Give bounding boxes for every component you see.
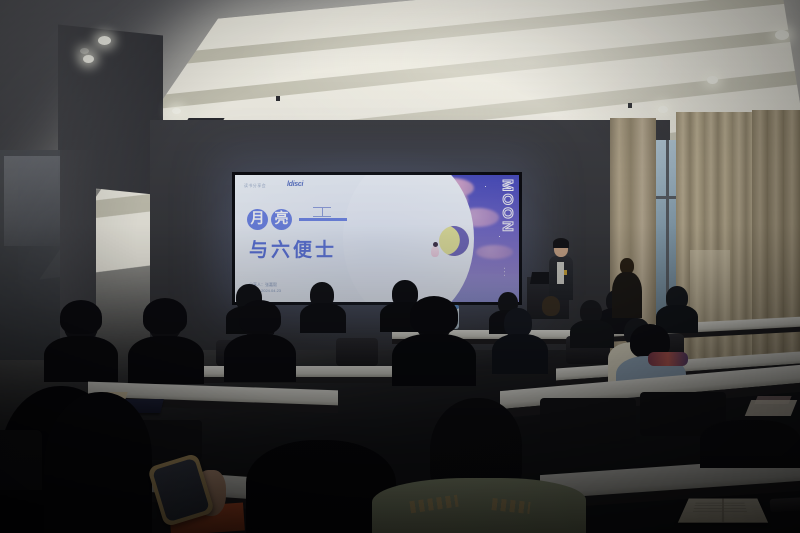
attendee-hair [60, 300, 102, 334]
chair [540, 398, 636, 444]
attendee-scarf [648, 352, 688, 366]
attendee-foreground-hair [44, 392, 152, 533]
book-page-text [692, 503, 748, 514]
lecture-room-photo: MOON ... 读书分享会 ldisci 月 亮 与六便士 分享人：张嘉毅 日… [0, 0, 800, 533]
attendee-shoulders [570, 320, 614, 348]
attendee-shoulders [492, 334, 548, 374]
standing-person-body [612, 272, 642, 318]
phone-on-desk [770, 497, 800, 512]
sprinkler-icon [628, 103, 632, 108]
paper-sheet [745, 400, 797, 416]
downlight-icon [98, 36, 111, 45]
downlight-icon [658, 106, 668, 113]
attendee-shoulders [128, 336, 204, 384]
downlight-icon [172, 108, 181, 114]
attendee-hair [239, 300, 281, 334]
downlight-icon [83, 55, 94, 63]
chair [0, 430, 42, 490]
book-icon [313, 207, 331, 217]
seated-figure-head [433, 242, 438, 247]
title-rule [299, 218, 347, 221]
projection-screen[interactable]: MOON ... 读书分享会 ldisci 月 亮 与六便士 分享人：张嘉毅 日… [235, 175, 519, 302]
slide-title-line1: 月 亮 [247, 209, 347, 230]
slide-header-text: 读书分享会 [244, 183, 266, 189]
title-char-1: 月 [247, 209, 268, 230]
sprinkler-icon [276, 96, 280, 101]
book-spine [722, 499, 724, 523]
attendee-shoulders [300, 303, 346, 333]
presenter-hair [553, 238, 569, 248]
attendee-hair [143, 298, 187, 334]
projection-screen-frame: MOON ... 读书分享会 ldisci 月 亮 与六便士 分享人：张嘉毅 日… [232, 172, 522, 305]
title-char-2: 亮 [271, 209, 292, 230]
seated-figure [431, 246, 439, 257]
attendee-head [542, 296, 560, 316]
downlight-icon [707, 76, 718, 84]
attendee-hair [410, 296, 458, 334]
chair [336, 338, 378, 366]
moon-dots: ... [502, 267, 512, 278]
presenter-badge [564, 270, 567, 275]
slide-logo: ldisci [287, 181, 303, 188]
presenter-shirt [557, 262, 564, 284]
attendee-shoulders [224, 334, 296, 382]
curtain-fold-highlight [690, 250, 730, 360]
downlight-icon [775, 30, 789, 40]
attendee-shoulders [700, 420, 800, 468]
attendee-shoulders [392, 334, 476, 386]
slide-title-line2: 与六便士 [249, 235, 337, 262]
downlight-icon [80, 48, 89, 54]
moon-wordmark: MOON [499, 179, 516, 234]
attendee-green-jacket [372, 478, 586, 533]
attendee-shoulders [44, 336, 118, 382]
